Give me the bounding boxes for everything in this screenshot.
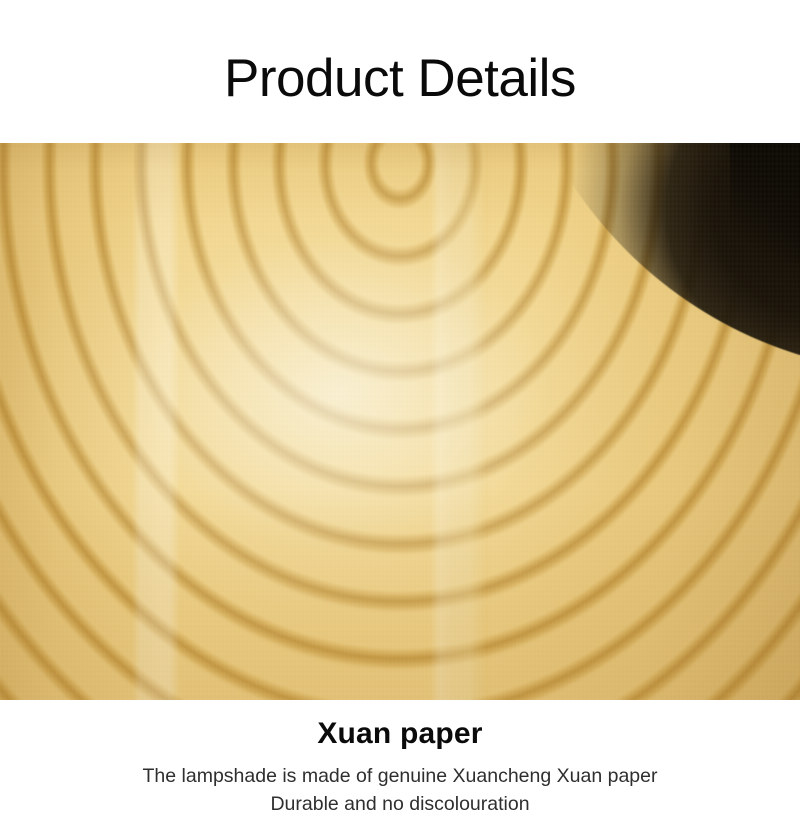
product-details-page: Product Details Xuan paper The lampshade…: [0, 0, 800, 839]
caption-section: Xuan paper The lampshade is made of genu…: [0, 700, 800, 839]
title-section: Product Details: [0, 0, 800, 143]
page-title: Product Details: [0, 48, 800, 110]
caption-title: Xuan paper: [0, 715, 800, 753]
caption-line-1: The lampshade is made of genuine Xuanche…: [0, 762, 800, 790]
caption-line-2: Durable and no discolouration: [0, 790, 800, 818]
product-photo: [0, 143, 800, 700]
photo-soft-focus: [0, 143, 800, 700]
